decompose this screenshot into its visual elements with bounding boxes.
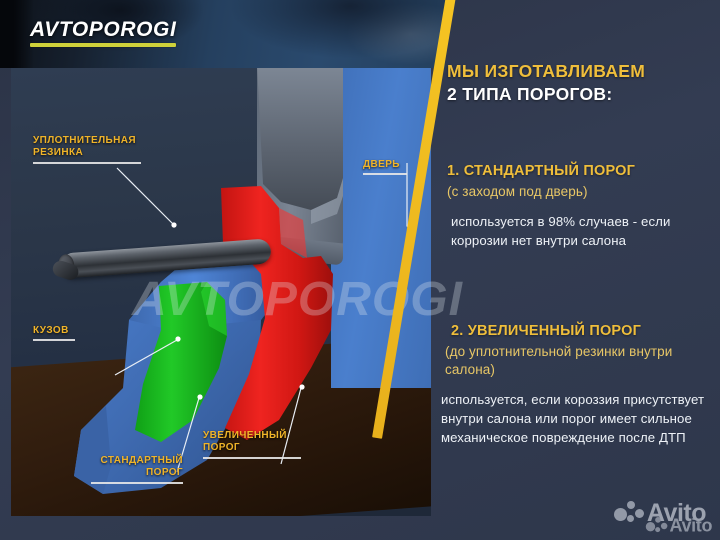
- section-extended-subtitle: (до уплотнительной резинки внутри салона…: [433, 343, 711, 379]
- section-extended-title: 2. УВЕЛИЧЕННЫЙ ПОРОГ: [433, 322, 711, 342]
- section-extended-body: используется, если короззия присутствует…: [433, 390, 711, 447]
- label-door-underline: [363, 173, 407, 175]
- panel-heading-line2: 2 ТИПА ПОРОГОВ:: [447, 83, 707, 106]
- label-extended-sill: УВЕЛИЧЕННЫЙ ПОРОГ: [203, 418, 301, 471]
- label-body: КУЗОВ: [33, 313, 75, 354]
- section-standard-title: 1. СТАНДАРТНЫЙ ПОРОГ: [433, 162, 711, 182]
- label-standard-sill-underline: [91, 482, 183, 484]
- avito-watermark: Avito Avito: [614, 500, 706, 526]
- infographic-canvas: AVTOPOROGI: [0, 0, 720, 540]
- brand-logo: AVTOPOROGI: [30, 19, 176, 47]
- label-standard-sill: СТАНДАРТНЫЙ ПОРОГ: [91, 443, 183, 496]
- avito-wordmark-ghost: Avito: [669, 517, 712, 535]
- label-door: ДВЕРЬ: [363, 147, 407, 188]
- label-extended-sill-underline: [203, 457, 301, 459]
- label-door-text: ДВЕРЬ: [363, 159, 400, 170]
- label-body-text: КУЗОВ: [33, 325, 69, 336]
- label-extended-sill-text: УВЕЛИЧЕННЫЙ ПОРОГ: [203, 430, 287, 453]
- label-body-underline: [33, 339, 75, 341]
- info-panel: МЫ ИЗГОТАВЛИВАЕМ 2 ТИПА ПОРОГОВ: 1. СТАН…: [425, 0, 710, 540]
- label-seal-underline: [33, 162, 141, 164]
- avito-logo-ghost: Avito: [646, 516, 712, 535]
- section-standard: 1. СТАНДАРТНЫЙ ПОРОГ (с заходом под двер…: [433, 162, 711, 250]
- label-seal-text: УПЛОТНИТЕЛЬНАЯ РЕЗИНКА: [33, 135, 136, 158]
- brand-name: AVTOPOROGI: [30, 19, 176, 40]
- panel-heading-line1: МЫ ИЗГОТАВЛИВАЕМ: [447, 60, 707, 83]
- section-extended: 2. УВЕЛИЧЕННЫЙ ПОРОГ (до уплотнительной …: [433, 322, 711, 447]
- sill-diagram: УПЛОТНИТЕЛЬНАЯ РЕЗИНКА ДВЕРЬ КУЗОВ СТАНД…: [11, 68, 431, 516]
- section-standard-subtitle: (с заходом под дверь): [433, 183, 711, 201]
- section-standard-body: используется в 98% случаев - если корроз…: [433, 212, 711, 250]
- brand-underline: [30, 43, 176, 47]
- label-standard-sill-text: СТАНДАРТНЫЙ ПОРОГ: [101, 455, 184, 478]
- avito-dots-icon-ghost: [646, 516, 668, 535]
- avito-dots-icon: [614, 500, 644, 526]
- label-seal: УПЛОТНИТЕЛЬНАЯ РЕЗИНКА: [33, 123, 141, 176]
